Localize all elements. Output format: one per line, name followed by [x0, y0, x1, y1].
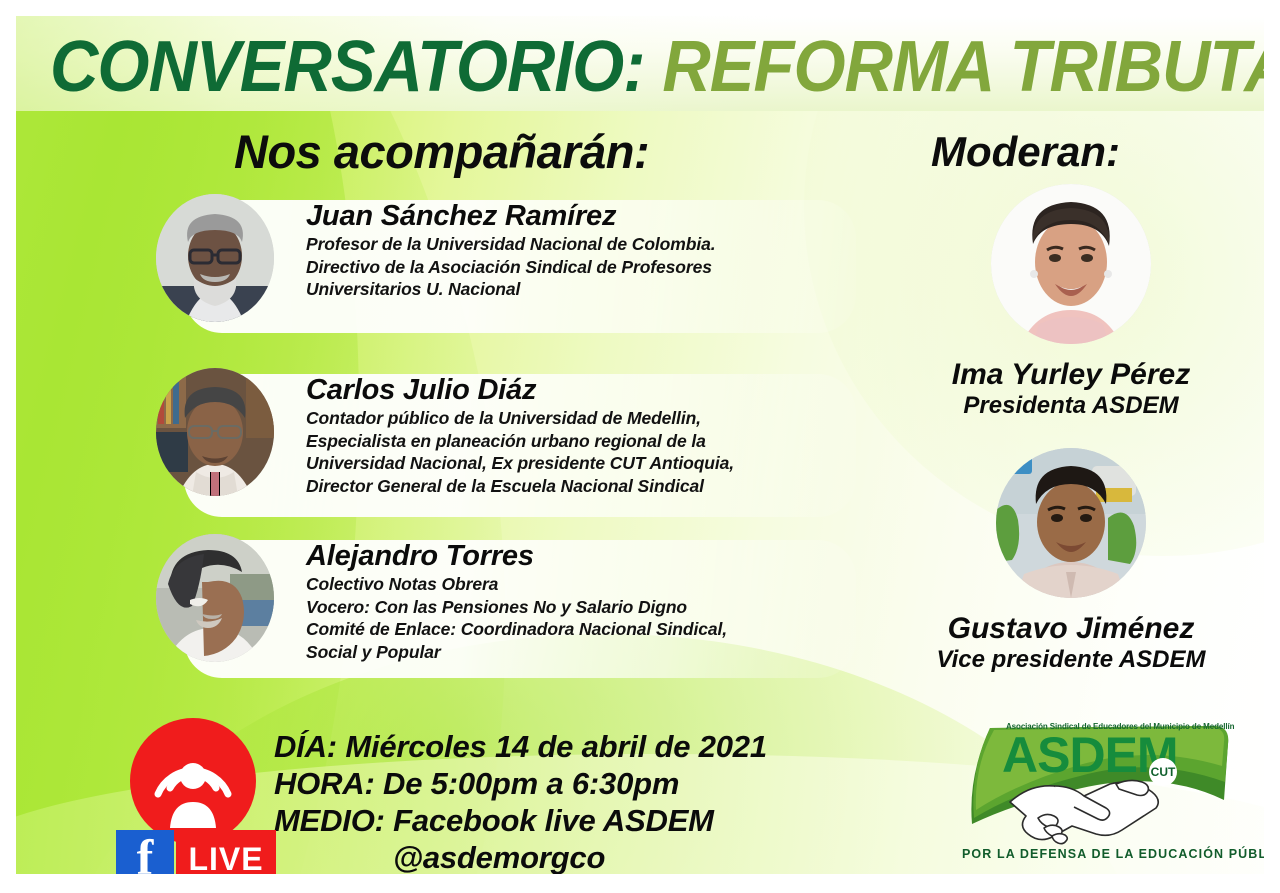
- facebook-live-badge[interactable]: f LIVE: [116, 718, 276, 874]
- cut-badge-label: CUT: [1151, 765, 1176, 779]
- speaker-card: Juan Sánchez Ramírez Profesor de la Univ…: [156, 194, 836, 339]
- live-label: LIVE: [188, 843, 263, 874]
- cut-badge: CUT: [1149, 758, 1177, 786]
- speaker-detail-line: Social y Popular: [306, 641, 727, 664]
- speaker-photo-juan-sanchez: [156, 194, 274, 322]
- speakers-heading: Nos acompañarán:: [234, 124, 649, 179]
- event-time: HORA: De 5:00pm a 6:30pm: [274, 765, 794, 802]
- speaker-info: Carlos Julio Diáz Contador público de la…: [306, 368, 734, 497]
- moderator-role: Presidenta ASDEM: [921, 392, 1221, 420]
- speaker-detail-line: Profesor de la Universidad Nacional de C…: [306, 233, 715, 256]
- moderator-photo-ima-yurley-perez: [991, 184, 1151, 344]
- speaker-detail-line: Director General de la Escuela Nacional …: [306, 475, 734, 498]
- facebook-letter: f: [137, 832, 154, 874]
- speaker-name: Juan Sánchez Ramírez: [306, 200, 715, 233]
- title-part-conversatorio: CONVERSATORIO:: [50, 27, 645, 107]
- speaker-detail-line: Comité de Enlace: Coordinadora Nacional …: [306, 618, 727, 641]
- event-details: DÍA: Miércoles 14 de abril de 2021 HORA:…: [274, 728, 794, 874]
- event-day: DÍA: Miércoles 14 de abril de 2021: [274, 728, 794, 765]
- page-title: CONVERSATORIO: REFORMA TRIBUTARIA: [50, 28, 1157, 106]
- speaker-detail-line: Especialista en planeación urbano region…: [306, 430, 734, 453]
- moderator-card: Gustavo Jiménez Vice presidente ASDEM: [921, 448, 1221, 674]
- moderator-role: Vice presidente ASDEM: [921, 646, 1221, 674]
- logo-subtitle: Asociación Sindical de Educadores del Mu…: [1006, 722, 1234, 731]
- poster-canvas: CONVERSATORIO: REFORMA TRIBUTARIA Nos ac…: [16, 16, 1264, 874]
- moderators-heading: Moderan:: [931, 128, 1120, 176]
- title-part-reforma: REFORMA TRIBUTARIA: [662, 27, 1264, 107]
- speaker-card: Carlos Julio Diáz Contador público de la…: [156, 368, 836, 523]
- logo-tagline: POR LA DEFENSA DE LA EDUCACIÓN PÚBLICA: [962, 847, 1252, 861]
- speaker-name: Alejandro Torres: [306, 540, 727, 573]
- speaker-photo-carlos-julio-diaz: [156, 368, 274, 496]
- live-broadcast-icon: [130, 718, 256, 844]
- speaker-info: Alejandro Torres Colectivo Notas Obrera …: [306, 534, 727, 663]
- speaker-detail-line: Universitarios U. Nacional: [306, 278, 715, 301]
- moderator-photo-gustavo-jimenez: [996, 448, 1146, 598]
- moderator-name: Gustavo Jiménez: [921, 612, 1221, 646]
- speaker-photo-alejandro-torres: [156, 534, 274, 662]
- speaker-detail-line: Contador público de la Universidad de Me…: [306, 407, 734, 430]
- moderator-card: Ima Yurley Pérez Presidenta ASDEM: [921, 184, 1221, 420]
- live-label-box: LIVE: [176, 830, 276, 874]
- poster-root: CONVERSATORIO: REFORMA TRIBUTARIA Nos ac…: [0, 0, 1280, 893]
- event-medium: MEDIO: Facebook live ASDEM: [274, 802, 794, 839]
- speaker-detail-line: Colectivo Notas Obrera: [306, 573, 727, 596]
- speaker-name: Carlos Julio Diáz: [306, 374, 734, 407]
- moderator-name: Ima Yurley Pérez: [921, 358, 1221, 392]
- asdem-logo: Asociación Sindical de Educadores del Mu…: [962, 714, 1262, 874]
- event-handle: @asdemorgco: [274, 839, 794, 874]
- speaker-card: Alejandro Torres Colectivo Notas Obrera …: [156, 534, 836, 684]
- speaker-detail-line: Directivo de la Asociación Sindical de P…: [306, 256, 715, 279]
- speaker-detail-line: Vocero: Con las Pensiones No y Salario D…: [306, 596, 727, 619]
- facebook-icon[interactable]: f: [116, 830, 174, 874]
- speaker-detail-line: Universidad Nacional, Ex presidente CUT …: [306, 452, 734, 475]
- speaker-info: Juan Sánchez Ramírez Profesor de la Univ…: [306, 194, 715, 301]
